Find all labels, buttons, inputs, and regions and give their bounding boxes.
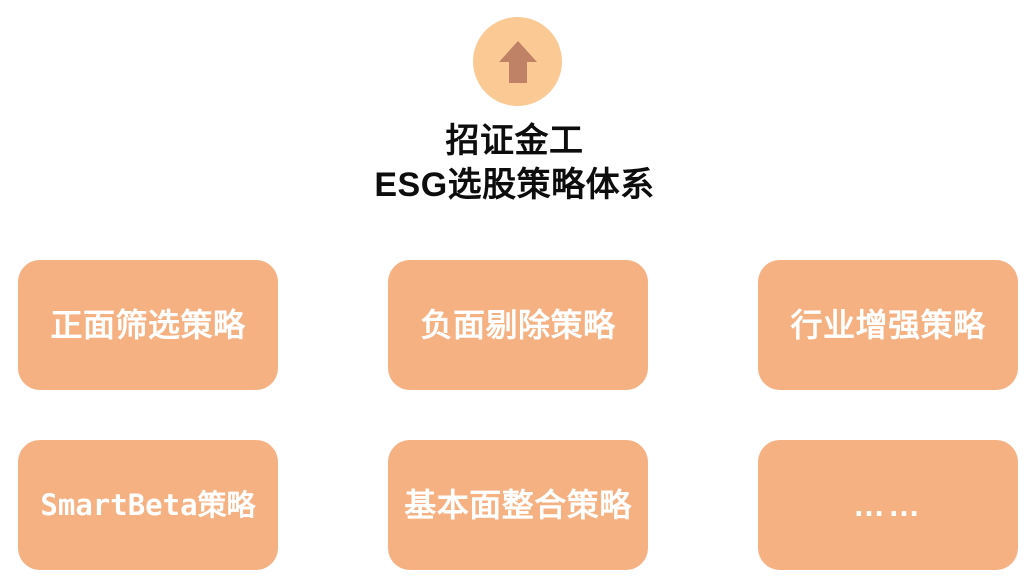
header-badge xyxy=(473,17,562,106)
strategy-card-label: 负面剔除策略 xyxy=(420,307,615,343)
title-line-1: 招证金工 xyxy=(0,119,1029,163)
strategy-card-industry-enhancement[interactable]: 行业增强策略 xyxy=(758,260,1018,390)
strategy-card-negative-exclusion[interactable]: 负面剔除策略 xyxy=(388,260,648,390)
strategy-card-more[interactable]: …… xyxy=(758,440,1018,570)
page-title: 招证金工 ESG选股策略体系 xyxy=(0,119,1029,207)
title-line-2: ESG选股策略体系 xyxy=(0,163,1029,207)
strategy-card-smartbeta[interactable]: SmartBeta策略 xyxy=(18,440,278,570)
strategy-card-label: …… xyxy=(853,487,923,523)
strategy-card-label: 基本面整合策略 xyxy=(404,487,632,523)
strategy-card-positive-screening[interactable]: 正面筛选策略 xyxy=(18,260,278,390)
strategy-card-fundamental-integration[interactable]: 基本面整合策略 xyxy=(388,440,648,570)
strategy-card-label: 行业增强策略 xyxy=(790,307,985,343)
strategy-card-label: SmartBeta策略 xyxy=(40,487,255,523)
strategy-card-label: 正面筛选策略 xyxy=(50,307,245,343)
arrow-up-icon xyxy=(497,39,539,85)
slide-canvas: 招证金工 ESG选股策略体系 正面筛选策略 负面剔除策略 行业增强策略 Smar… xyxy=(0,0,1029,579)
strategy-card-grid: 正面筛选策略 负面剔除策略 行业增强策略 SmartBeta策略 基本面整合策略… xyxy=(18,260,1018,570)
